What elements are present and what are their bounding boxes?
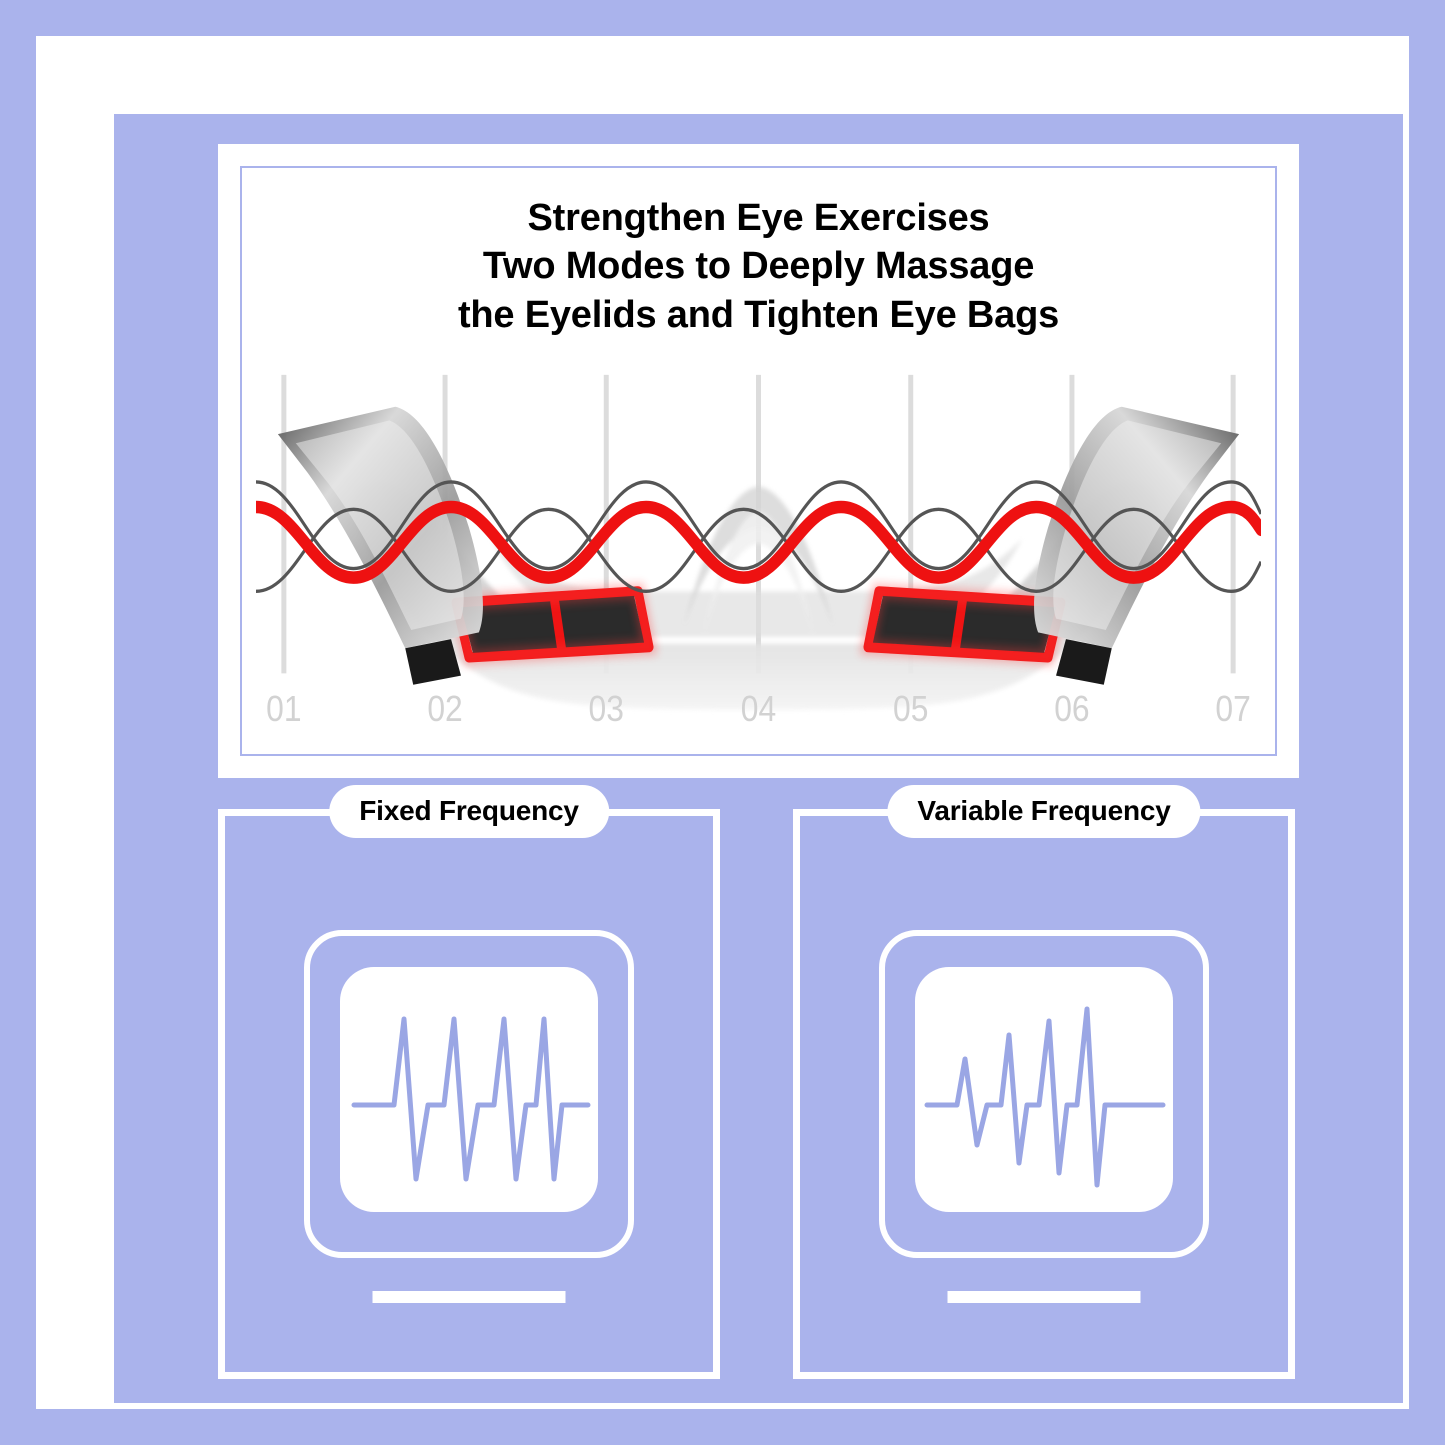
mode-label-fixed-frequency: Fixed Frequency bbox=[329, 785, 609, 838]
title-line-2: Two Modes to Deeply Massage bbox=[242, 242, 1275, 290]
page-title: Strengthen Eye Exercises Two Modes to De… bbox=[242, 194, 1275, 339]
mode-card-fixed-frequency[interactable]: Fixed Frequency bbox=[218, 809, 720, 1379]
hero-card-inner-border: Strengthen Eye Exercises Two Modes to De… bbox=[240, 166, 1277, 756]
waveform-variable-icon bbox=[915, 967, 1173, 1212]
tick-label-06: 06 bbox=[1054, 689, 1089, 729]
mode-bar-variable bbox=[948, 1291, 1141, 1303]
icon-outline-variable bbox=[879, 930, 1209, 1258]
mode-bar-fixed bbox=[373, 1291, 566, 1303]
tick-label-01: 01 bbox=[266, 689, 301, 729]
mode-label-variable-frequency: Variable Frequency bbox=[887, 785, 1200, 838]
tick-label-04: 04 bbox=[741, 689, 776, 729]
tick-label-05: 05 bbox=[893, 689, 928, 729]
inner-panel: Strengthen Eye Exercises Two Modes to De… bbox=[114, 114, 1403, 1403]
tick-label-02: 02 bbox=[427, 689, 462, 729]
title-line-1: Strengthen Eye Exercises bbox=[242, 194, 1275, 242]
icon-outline-fixed bbox=[304, 930, 634, 1258]
hero-card: Strengthen Eye Exercises Two Modes to De… bbox=[218, 144, 1299, 778]
outer-white-frame: Strengthen Eye Exercises Two Modes to De… bbox=[36, 36, 1409, 1409]
product-waveform-figure: 01 02 03 04 05 06 07 bbox=[256, 368, 1261, 744]
tick-label-07: 07 bbox=[1215, 689, 1250, 729]
title-line-3: the Eyelids and Tighten Eye Bags bbox=[242, 291, 1275, 339]
waveform-fixed-icon bbox=[340, 967, 598, 1212]
tick-labels: 01 02 03 04 05 06 07 bbox=[266, 689, 1251, 729]
mode-card-variable-frequency[interactable]: Variable Frequency bbox=[793, 809, 1295, 1379]
tick-label-03: 03 bbox=[589, 689, 624, 729]
